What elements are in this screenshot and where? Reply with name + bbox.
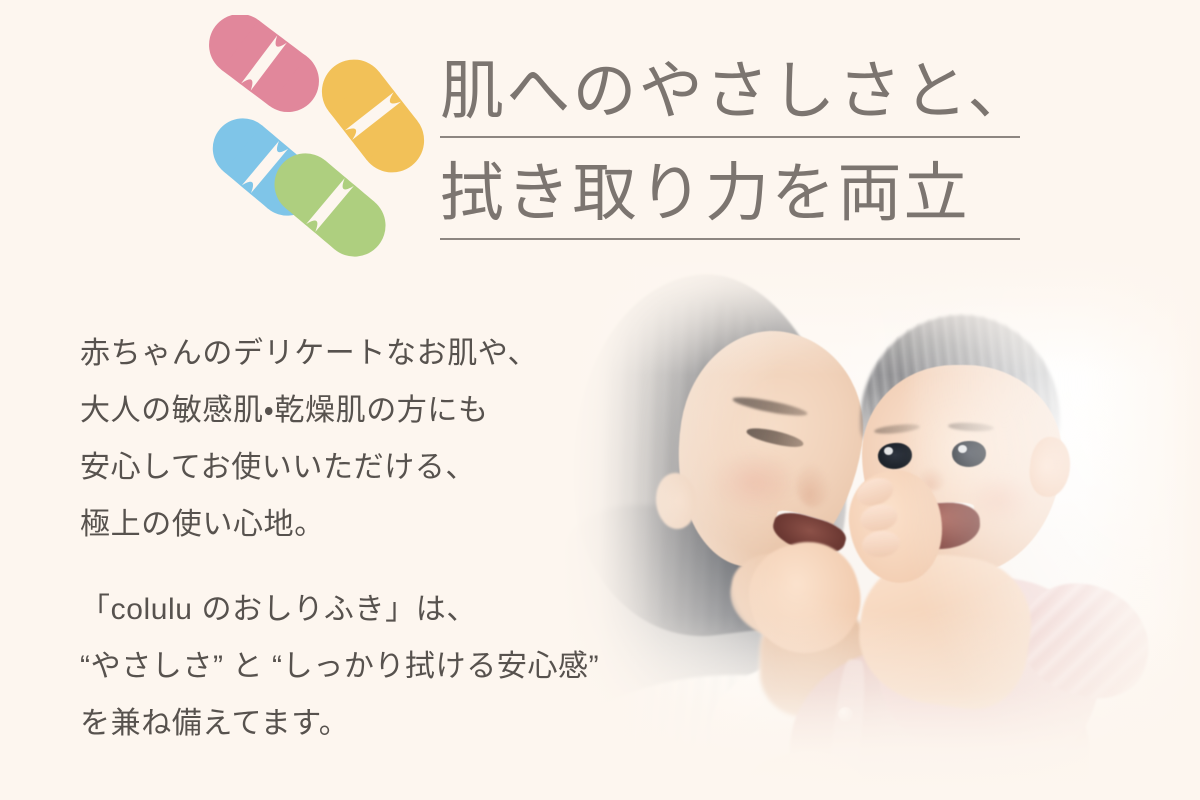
copy-line: 「colulu のおしりふき」は、 — [80, 593, 477, 626]
mother-and-baby-photo — [560, 255, 1200, 800]
copy-line: “やさしさ” と “しっかり拭ける安心感” — [80, 650, 599, 683]
baby-romper-button — [838, 707, 853, 722]
copy-line: 大人の敏感肌・乾燥肌の方にも — [80, 394, 489, 427]
copy-line: 極上の使い心地。 — [80, 508, 325, 541]
mother-cheek — [710, 451, 796, 513]
paragraph-2: 「colulu のおしりふき」は、 “やさしさ” と “しっかり拭ける安心感” … — [80, 581, 640, 752]
headline-line-2: 拭き取り力を両立 — [440, 154, 1020, 240]
page-root: 肌へのやさしさと、 拭き取り力を両立 赤ちゃんのデリケートなお肌や、 大人の敏感… — [0, 0, 1200, 800]
mother-nose — [796, 463, 830, 507]
colulu-peanut-logo — [185, 15, 435, 275]
photo-backdrop — [560, 255, 1200, 800]
baby-eye-highlight — [884, 447, 893, 455]
copy-line: 赤ちゃんのデリケートなお肌や、 — [80, 337, 538, 370]
paragraph-1: 赤ちゃんのデリケートなお肌や、 大人の敏感肌・乾燥肌の方にも 安心してお使いいた… — [80, 325, 640, 553]
window-light — [910, 255, 1200, 775]
pink-peanut-icon — [197, 15, 332, 124]
headline-line-1: 肌へのやさしさと、 — [440, 52, 1020, 138]
headline: 肌へのやさしさと、 拭き取り力を両立 — [440, 52, 1020, 240]
body-copy: 赤ちゃんのデリケートなお肌や、 大人の敏感肌・乾燥肌の方にも 安心してお使いいた… — [80, 325, 640, 752]
copy-line: を兼ね備えてます。 — [80, 707, 349, 740]
copy-line: 安心してお使いいただける、 — [80, 451, 476, 484]
